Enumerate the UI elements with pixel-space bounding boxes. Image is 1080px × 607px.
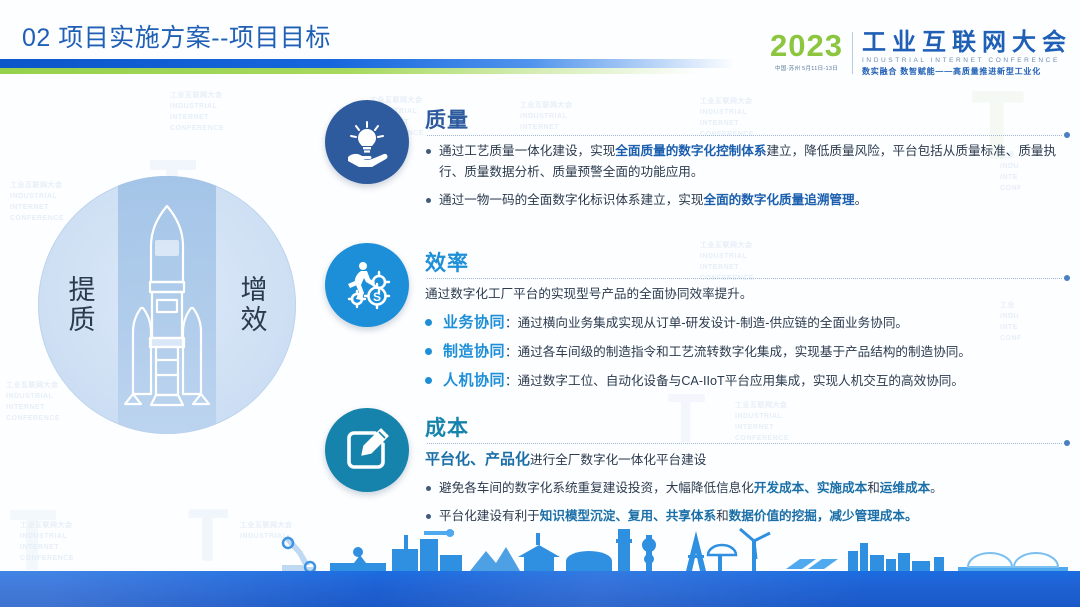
text-highlight: 知识模型沉淀、复用、共享体系 [540,509,716,523]
text-highlight: 开发成本、实施成本 [754,481,867,495]
conference-logo: 2023 中国·苏州 5月11日-13日 工业互联网大会 INDUSTRIAL … [770,30,1072,77]
section-rule [427,277,1062,279]
logo-slogan: 数实融合 数智赋能——高质量推进新型工业化 [862,66,1072,77]
section-rule [427,134,1062,136]
bullet-item: 人机协同：通过数字工位、自动化设备与CA-IIoT平台应用集成，实现人机交互的高… [425,370,1070,392]
section-title: 质量 [425,104,469,134]
footer [0,527,1080,607]
circle-word-left: 提质 [60,275,104,335]
sub-key-label: 业务协同 [443,314,505,331]
text-highlight: 全面质量的数字化控制体系 [615,144,766,158]
logo-name-block: 工业互联网大会 INDUSTRIAL INTERNET CONFERENCE 数… [853,30,1072,77]
section-efficiency-header: 效率 [425,247,1070,277]
section-quality-header: 质量 [425,104,1070,134]
hand-lightbulb-icon [325,100,409,184]
text-part: 通过一物一码的全面数字化标识体系建立，实现 [439,193,703,207]
watermark-text: 工业互联网大会 INDUSTRIAL INTERNET CONFERENCE [6,380,60,424]
text-part: ：通过横向业务集成实现从订单-研发设计-制造-供应链的全面业务协同。 [505,316,908,330]
section-cost-body: 成本 平台化、产品化进行全厂数字化一体化平台建设 避免各车间的数字化系统重复建设… [425,408,1070,527]
text-part: 避免各车间的数字化系统重复建设投资，大幅降低信息化 [439,481,754,495]
text-part: 和 [716,509,729,523]
text-highlight: 运维成本 [880,481,930,495]
header-divider-blue [0,59,735,68]
section-efficiency-body: 效率 通过数字化工厂平台的实现型号产品的全面协同效率提升。 业务协同：通过横向业… [425,243,1070,392]
logo-year-block: 2023 中国·苏州 5月11日-13日 [770,30,852,72]
logo-name-en: INDUSTRIAL INTERNET CONFERENCE [862,57,1072,64]
bullet-item: 业务协同：通过横向业务集成实现从订单-研发设计-制造-供应链的全面业务协同。 [425,312,1070,334]
bullet-item: 平台化建设有利于知识模型沉淀、复用、共享体系和数据价值的挖掘，减少管理成本。 [425,506,1070,527]
lead-text: 通过数字化工厂平台的实现型号产品的全面协同效率提升。 [425,284,1070,305]
text-part: 通过工艺质量一体化建设，实现 [439,144,615,158]
text-highlight: 平台化、产品化 [425,451,530,468]
bullet-item: 避免各车间的数字化系统重复建设投资，大幅降低信息化开发成本、实施成本和运维成本。 [425,478,1070,499]
page-title: 02 项目实施方案--项目目标 [22,18,331,54]
bullet-item: 通过工艺质量一体化建设，实现全面质量的数字化控制体系建立，降低质量风险，平台包括… [425,141,1070,183]
text-part: 。 [930,481,943,495]
section-title: 效率 [425,247,469,277]
section-title: 成本 [425,412,469,442]
section-cost: 成本 平台化、产品化进行全厂数字化一体化平台建设 避免各车间的数字化系统重复建设… [325,408,1070,527]
pencil-square-icon [325,408,409,492]
sub-key-label: 制造协同 [443,343,505,360]
bullet-item: 制造协同：通过各车间级的制造指令和工艺流转数字化集成，实现基于产品结构的制造协同… [425,341,1070,363]
rocket-illustration-icon [111,200,223,410]
runner-gears-icon: S [325,243,409,327]
watermark-text: 工业互联网大会 INDUSTRIAL INTERNET CONFERENCE [10,180,64,224]
section-cost-header: 成本 [425,412,1070,442]
sub-key-label: 人机协同 [443,372,505,389]
section-quality-body: 质量 通过工艺质量一体化建设，实现全面质量的数字化控制体系建立，降低质量风险，平… [425,100,1070,211]
text-part: 和 [867,481,880,495]
industrial-city-skyline-icon [0,525,1080,573]
text-highlight: 全面的数字化质量追溯管理 [703,193,854,207]
text-part: 。 [855,193,868,207]
section-rule [427,442,1062,444]
logo-year: 2023 [770,30,843,62]
watermark-text: 工业互联网大会 INDUSTRIAL INTERNET CONFERENCE [170,90,224,134]
header-divider-green [0,68,700,74]
logo-date: 中国·苏州 5月11日-13日 [770,64,843,72]
bullet-item: 通过一物一码的全面数字化标识体系建立，实现全面的数字化质量追溯管理。 [425,190,1070,211]
circle-word-right: 增效 [232,275,276,335]
logo-name-cn: 工业互联网大会 [862,30,1072,56]
text-highlight: 数据价值的挖掘，减少管理成本。 [729,509,918,523]
text-part: 通过数字化工厂平台的实现型号产品的全面协同效率提升。 [425,287,752,301]
svg-text:S: S [373,290,381,304]
section-quality: 质量 通过工艺质量一体化建设，实现全面质量的数字化控制体系建立，降低质量风险，平… [325,100,1070,211]
goal-circle-visual: 提质 增效 [38,176,296,434]
text-part: 平台化建设有利于 [439,509,540,523]
slide-canvas: 工业互联网大会 INDUSTRIAL INTERNET CONFERENCE 工… [0,0,1080,607]
lead-text: 平台化、产品化进行全厂数字化一体化平台建设 [425,449,1070,471]
text-part: 进行全厂数字化一体化平台建设 [530,453,706,467]
text-part: ：通过数字工位、自动化设备与CA-IIoT平台应用集成，实现人机交互的高效协同。 [505,374,964,388]
section-efficiency: S 效率 通过数字化工厂平台的实现型号产品的全面协同效率提升。 业务协同：通过横… [325,243,1070,392]
footer-band [0,571,1080,607]
text-part: ：通过各车间级的制造指令和工艺流转数字化集成，实现基于产品结构的制造协同。 [505,345,971,359]
